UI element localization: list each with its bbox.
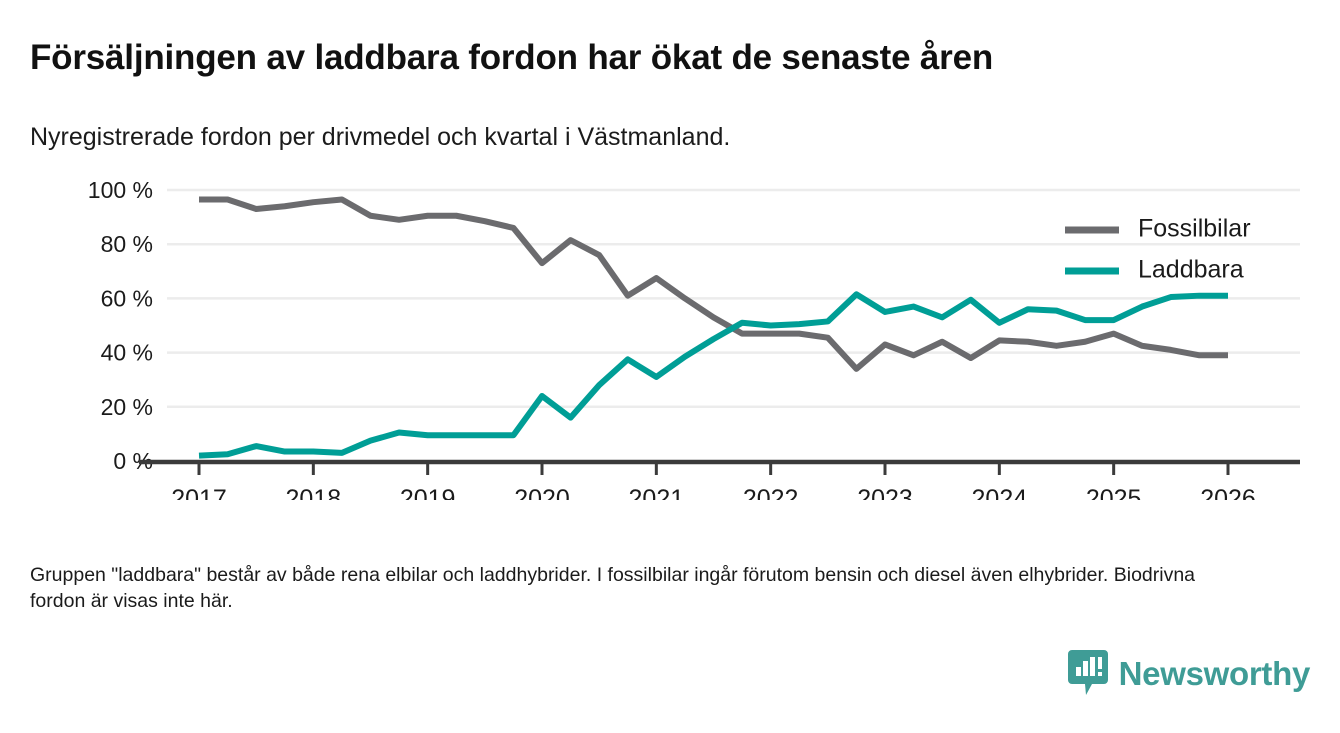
y-axis-labels-group: 0 %20 %40 %60 %80 %100 % [88,177,153,474]
chart-plot-area: 0 %20 %40 %60 %80 %100 % 201720182019202… [0,170,1340,500]
bar-chart-speech-bubble-icon [1068,650,1108,696]
y-axis-tick-label: 40 % [101,340,153,366]
x-axis-tick-label: 2018 [286,485,342,500]
x-axis-group [139,462,1300,475]
line-chart-svg: 0 %20 %40 %60 %80 %100 % 201720182019202… [0,170,1340,500]
y-axis-tick-label: 60 % [101,285,153,311]
x-axis-tick-label: 2017 [171,485,227,500]
data-series-group [199,199,1228,455]
x-axis-tick-label: 2021 [629,485,685,500]
y-axis-tick-label: 100 % [88,177,153,203]
x-axis-tick-label: 2025 [1086,485,1142,500]
x-axis-tick-label: 2026 [1200,485,1256,500]
x-axis-tick-label: 2020 [514,485,570,500]
chart-subtitle: Nyregistrerade fordon per drivmedel och … [30,123,730,152]
newsworthy-logo: Newsworthy [1068,650,1310,696]
x-axis-tick-label: 2019 [400,485,456,500]
chart-footnote: Gruppen "laddbara" består av både rena e… [30,563,1245,614]
x-axis-tick-label: 2023 [857,485,913,500]
legend-label: Laddbara [1138,256,1244,284]
legend-label: Fossilbilar [1138,215,1251,243]
x-axis-labels-group: 2017201820192020202120222023202420252026 [171,485,1256,500]
y-axis-tick-label: 20 % [101,394,153,420]
page-title: Försäljningen av laddbara fordon har öka… [30,38,993,78]
x-axis-tick-label: 2022 [743,485,799,500]
gridlines-group [167,190,1300,407]
x-axis-tick-label: 2024 [972,485,1028,500]
logo-wordmark: Newsworthy [1119,657,1310,690]
chart-legend: FossilbilarLaddbara [1065,215,1251,284]
chart-page: Försäljningen av laddbara fordon har öka… [0,0,1340,733]
y-axis-tick-label: 80 % [101,231,153,257]
series-line-fossilbilar [199,199,1228,368]
